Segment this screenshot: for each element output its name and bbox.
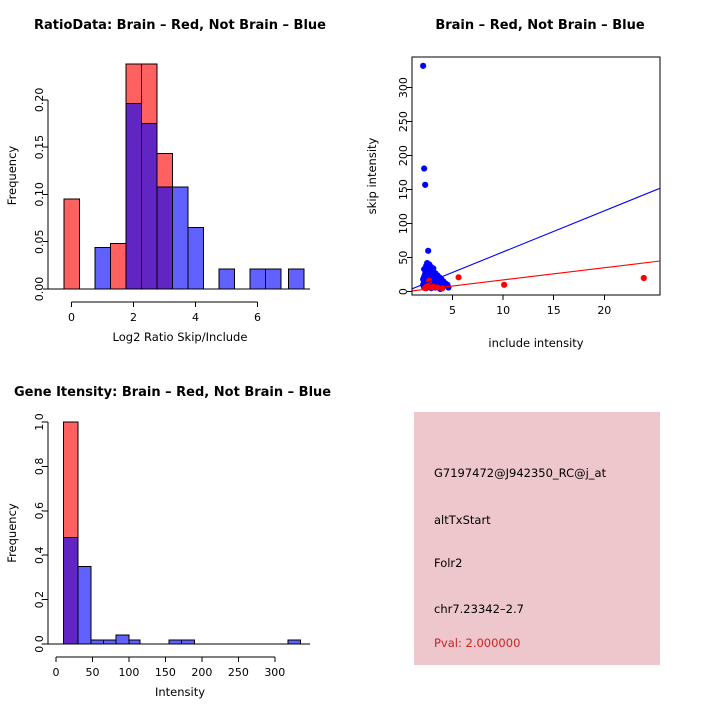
scatter-canvas: 0501001502002503005101520include intensi… bbox=[360, 0, 720, 360]
scatter-ytick-label: 100 bbox=[397, 213, 410, 234]
gene-xtick-label: 50 bbox=[85, 666, 99, 679]
scatter-ytick-label: 150 bbox=[397, 179, 410, 200]
ratio-xtick-label: 4 bbox=[192, 311, 199, 324]
scatter-point bbox=[425, 248, 431, 254]
scatter-ylabel: skip intensity bbox=[365, 137, 379, 214]
ratio-histogram-canvas: 0.000.050.100.150.200246Log2 Ratio Skip/… bbox=[0, 0, 360, 360]
info-pval: Pval: 2.000000 bbox=[434, 636, 520, 650]
ratio-histogram-title: RatioData: Brain – Red, Not Brain – Blue bbox=[0, 18, 360, 33]
ratio-bars bbox=[64, 64, 304, 289]
scatter-ytick-label: 0 bbox=[397, 288, 410, 295]
ratio-ytick-label: 0.05 bbox=[33, 229, 46, 254]
gene-xtick-label: 250 bbox=[228, 666, 249, 679]
gene-xtick-label: 150 bbox=[155, 666, 176, 679]
gene-bar bbox=[78, 566, 91, 644]
gene-histogram-canvas: 0.00.20.40.60.81.0050100150200250300Inte… bbox=[0, 360, 360, 720]
scatter-point bbox=[421, 165, 427, 171]
scatter-xtick-label: 5 bbox=[449, 304, 456, 317]
scatter-ytick-label: 300 bbox=[397, 77, 410, 98]
gene-xtick-label: 100 bbox=[118, 666, 139, 679]
ratio-xlabel: Log2 Ratio Skip/Include bbox=[113, 330, 248, 344]
gene-ytick-label: 0.0 bbox=[33, 635, 46, 653]
scatter-xtick-label: 15 bbox=[547, 304, 561, 317]
ratio-bar bbox=[157, 187, 173, 289]
gene-axis: 0.00.20.40.60.81.0 bbox=[33, 413, 48, 653]
gene-xtick-label: 0 bbox=[53, 666, 60, 679]
scatter-ytick-label: 250 bbox=[397, 111, 410, 132]
gene-bar bbox=[103, 640, 115, 644]
ratio-axis: 0246 bbox=[68, 302, 261, 324]
gene-axis: 050100150200250300 bbox=[53, 657, 286, 679]
scatter-point bbox=[439, 285, 445, 291]
gene-ylabel: Frequency bbox=[5, 503, 19, 563]
gene-bar bbox=[181, 640, 194, 644]
scatter-xlabel: include intensity bbox=[488, 336, 583, 350]
panel-scatter: Brain – Red, Not Brain – Blue 0501001502… bbox=[360, 0, 720, 360]
info-probe-id: G7197472@J942350_RC@j_at bbox=[434, 466, 606, 480]
ratio-ytick-label: 0.20 bbox=[33, 88, 46, 113]
ratio-axis: 0.000.050.100.150.20 bbox=[33, 88, 48, 302]
gene-bar bbox=[169, 640, 181, 644]
gene-bars bbox=[63, 422, 300, 644]
scatter-point bbox=[445, 284, 451, 290]
ratio-bar bbox=[172, 187, 188, 289]
ratio-bar bbox=[95, 247, 111, 289]
gene-histogram-title: Gene Itensity: Brain – Red, Not Brain – … bbox=[0, 385, 374, 400]
info-content: G7197472@J942350_RC@j_at altTxStart Folr… bbox=[414, 412, 660, 665]
info-event-type: altTxStart bbox=[434, 513, 491, 527]
scatter-plot-area bbox=[412, 63, 660, 292]
scatter-fit-line bbox=[412, 188, 660, 289]
panel-info: G7197472@J942350_RC@j_at altTxStart Folr… bbox=[414, 412, 660, 665]
gene-ytick-label: 0.4 bbox=[33, 546, 46, 564]
ratio-bar bbox=[110, 244, 126, 289]
gene-ytick-label: 0.6 bbox=[33, 502, 46, 520]
scatter-fit-line bbox=[412, 261, 660, 291]
ratio-ylabel: Frequency bbox=[5, 146, 19, 206]
scatter-point bbox=[641, 275, 647, 281]
ratio-bar bbox=[64, 199, 80, 289]
scatter-axis: 5101520 bbox=[449, 295, 611, 317]
gene-ytick-label: 1.0 bbox=[33, 413, 46, 431]
gene-bar bbox=[129, 640, 140, 644]
scatter-point bbox=[428, 284, 434, 290]
info-gene-symbol: Folr2 bbox=[434, 556, 462, 570]
ratio-bar bbox=[126, 104, 142, 289]
scatter-point bbox=[501, 282, 507, 288]
gene-bar bbox=[288, 640, 300, 644]
ratio-xtick-label: 2 bbox=[130, 311, 137, 324]
ratio-bar bbox=[250, 269, 266, 289]
ratio-ytick-label: 0.10 bbox=[33, 182, 46, 207]
scatter-series bbox=[422, 274, 647, 291]
scatter-title: Brain – Red, Not Brain – Blue bbox=[360, 18, 720, 33]
scatter-series bbox=[420, 63, 452, 292]
gene-bar bbox=[116, 635, 129, 644]
gene-xlabel: Intensity bbox=[155, 685, 205, 699]
scatter-xtick-label: 20 bbox=[597, 304, 611, 317]
scatter-point bbox=[422, 285, 428, 291]
gene-bar bbox=[91, 640, 103, 644]
scatter-point bbox=[420, 63, 426, 69]
info-locus: chr7.23342–2.7 bbox=[434, 602, 524, 616]
gene-xtick-label: 300 bbox=[264, 666, 285, 679]
panel-ratio-histogram: RatioData: Brain – Red, Not Brain – Blue… bbox=[0, 0, 360, 360]
gene-xtick-label: 200 bbox=[191, 666, 212, 679]
ratio-bar bbox=[265, 269, 281, 289]
panel-gene-histogram: Gene Itensity: Brain – Red, Not Brain – … bbox=[0, 360, 360, 720]
ratio-bar bbox=[188, 228, 204, 289]
scatter-plot-frame bbox=[412, 57, 660, 295]
scatter-axis: 050100150200250300 bbox=[397, 77, 412, 295]
scatter-point bbox=[455, 274, 461, 280]
scatter-xtick-label: 10 bbox=[496, 304, 510, 317]
ratio-bar bbox=[219, 269, 235, 289]
ratio-xtick-label: 6 bbox=[254, 311, 261, 324]
ratio-bar bbox=[289, 269, 305, 289]
ratio-bar bbox=[141, 123, 157, 289]
gene-ytick-label: 0.8 bbox=[33, 458, 46, 476]
gene-ytick-label: 0.2 bbox=[33, 591, 46, 609]
scatter-ytick-label: 50 bbox=[397, 251, 410, 265]
gene-bar bbox=[63, 537, 78, 644]
ratio-ytick-label: 0.00 bbox=[33, 277, 46, 302]
ratio-ytick-label: 0.15 bbox=[33, 135, 46, 160]
scatter-point bbox=[422, 182, 428, 188]
gene-bar-outlines bbox=[63, 422, 300, 644]
scatter-ytick-label: 200 bbox=[397, 145, 410, 166]
ratio-xtick-label: 0 bbox=[68, 311, 75, 324]
